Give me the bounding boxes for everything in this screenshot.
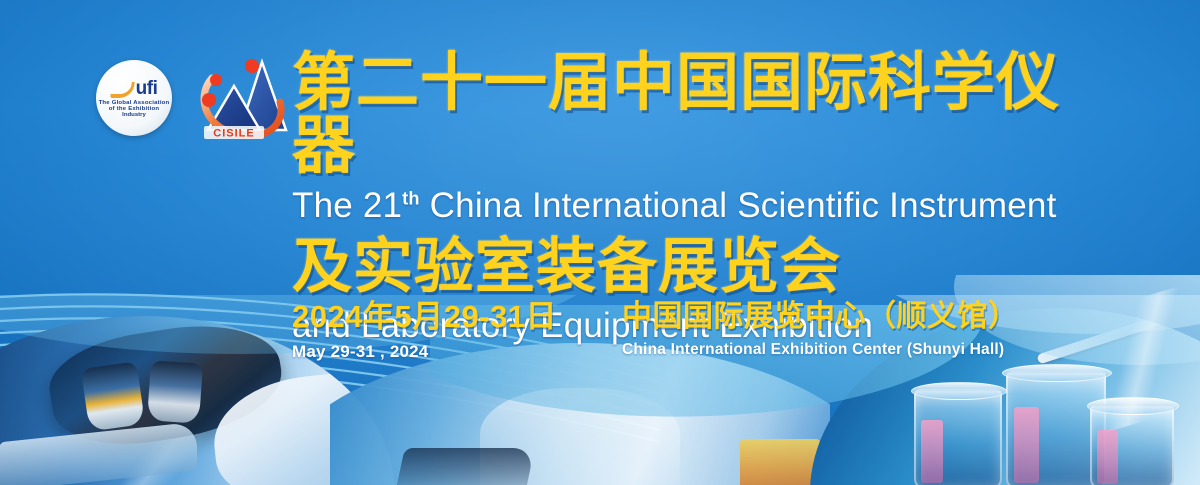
- title-en-line1: The 21th China International Scientific …: [292, 188, 1122, 223]
- date-en: May 29-31 , 2024: [292, 342, 622, 362]
- venue-en: China International Exhibition Center (S…: [622, 341, 1019, 359]
- title-en-line1-before: The 21: [292, 186, 402, 225]
- beaker-liquid: [1097, 430, 1118, 484]
- microscope-stage: [0, 421, 196, 485]
- venue-cn: 中国国际展览中心（顺义馆）: [622, 300, 1019, 333]
- lab-scene-photo: [330, 343, 830, 485]
- ufi-tagline-line3: Industry: [122, 112, 146, 117]
- ufi-wordmark: ufi: [136, 79, 158, 98]
- beaker-liquid: [1014, 407, 1039, 483]
- info-row: 2024年5月29-31日 May 29-31 , 2024 中国国际展览中心（…: [292, 300, 1092, 362]
- title-cn-line1: 第二十一届中国国际科学仪器: [292, 52, 1122, 178]
- ufi-wordmark-row: ufi: [111, 79, 158, 98]
- date-block: 2024年5月29-31日 May 29-31 , 2024: [292, 300, 622, 362]
- title-cn-line2: 及实验室装备展览会: [292, 237, 1122, 297]
- ufi-swoosh-icon: [110, 82, 135, 98]
- ufi-tagline-line1: The Global Association: [99, 100, 170, 105]
- logo-group: ufi The Global Association of the Exhibi…: [96, 52, 296, 152]
- beaker: [914, 389, 1002, 485]
- microscope-objective: [147, 360, 203, 423]
- venue-block: 中国国际展览中心（顺义馆） China International Exhibi…: [622, 300, 1019, 359]
- title-en-ordinal-suffix: th: [402, 188, 420, 208]
- lab-scene-accent: [740, 439, 820, 485]
- exhibition-banner: ufi The Global Association of the Exhibi…: [0, 0, 1200, 485]
- date-cn: 2024年5月29-31日: [292, 300, 622, 334]
- ufi-logo: ufi The Global Association of the Exhibi…: [96, 60, 172, 136]
- svg-text:CISILE: CISILE: [213, 128, 254, 140]
- beaker-liquid: [921, 420, 943, 483]
- title-en-line1-after: China International Scientific Instrumen…: [420, 186, 1057, 225]
- cisile-logo: CISILE: [190, 52, 296, 152]
- ufi-tagline-line2: of the Exhibition: [109, 106, 159, 111]
